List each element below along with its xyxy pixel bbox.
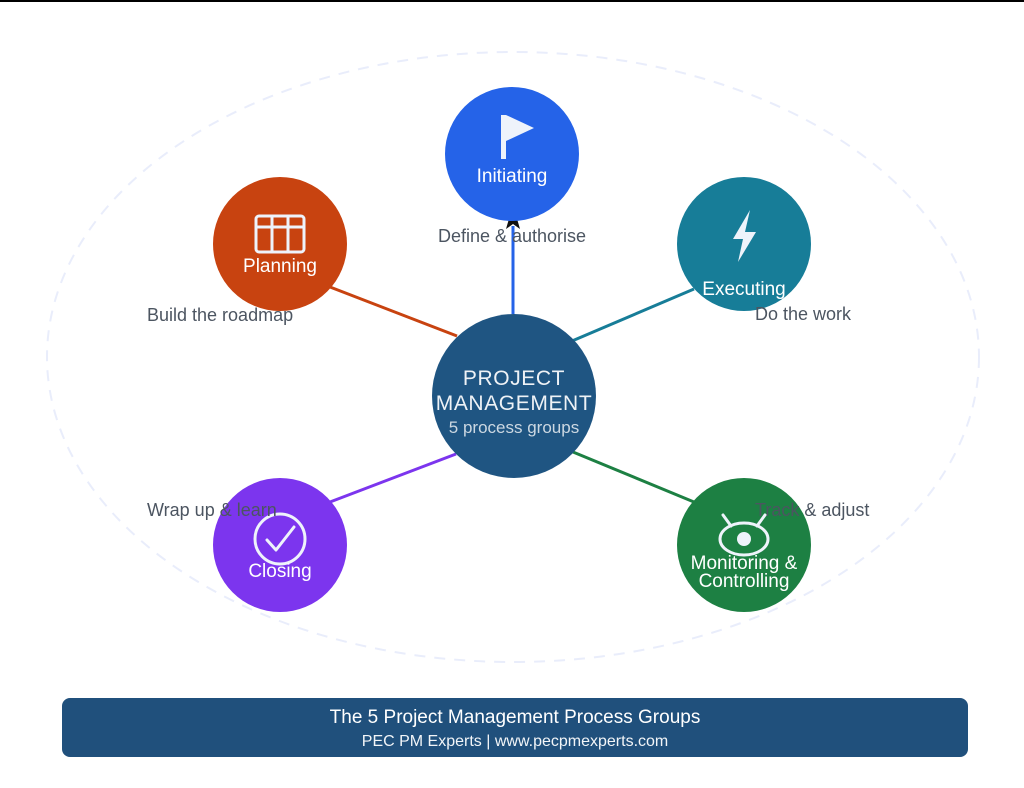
node-monitoring-controlling[interactable]: Monitoring & Controlling	[677, 478, 811, 612]
footer-subtitle: PEC PM Experts | www.pecpmexperts.com	[362, 733, 668, 750]
connector-hub-to-planning	[330, 287, 457, 336]
initiating-circle[interactable]	[445, 87, 579, 221]
connector-hub-to-executing	[572, 289, 694, 341]
node-closing[interactable]: Closing	[213, 478, 347, 612]
executing-caption: Do the work	[755, 304, 852, 324]
diagram-canvas: PROJECT MANAGEMENT 5 process groups Init…	[0, 0, 1024, 788]
project-management-hub[interactable]: PROJECT MANAGEMENT 5 process groups	[432, 314, 596, 478]
executing-label: Executing	[702, 279, 785, 300]
node-initiating[interactable]: Initiating	[445, 87, 579, 221]
footer-banner: The 5 Project Management Process Groups …	[62, 698, 968, 757]
planning-caption: Build the roadmap	[147, 305, 293, 325]
monitoring-controlling-label-line2: Controlling	[699, 571, 790, 592]
monitoring-controlling-caption: Track & adjust	[755, 500, 869, 520]
node-executing[interactable]: Executing	[677, 177, 811, 311]
process-groups-diagram: PROJECT MANAGEMENT 5 process groups Init…	[0, 2, 1024, 788]
closing-caption: Wrap up & learn	[147, 500, 277, 520]
hub-title-line1: PROJECT	[463, 367, 565, 390]
initiating-label: Initiating	[477, 166, 548, 187]
connector-hub-to-monitoring	[573, 452, 694, 502]
footer-title: The 5 Project Management Process Groups	[330, 707, 701, 728]
node-planning[interactable]: Planning	[213, 177, 347, 311]
closing-label: Closing	[248, 561, 311, 582]
hub-subtitle: 5 process groups	[449, 418, 579, 437]
connector-hub-to-closing	[330, 454, 456, 502]
initiating-caption: Define & authorise	[438, 226, 586, 246]
planning-label: Planning	[243, 256, 317, 277]
hub-title-line2: MANAGEMENT	[436, 392, 593, 415]
planning-circle[interactable]	[213, 177, 347, 311]
